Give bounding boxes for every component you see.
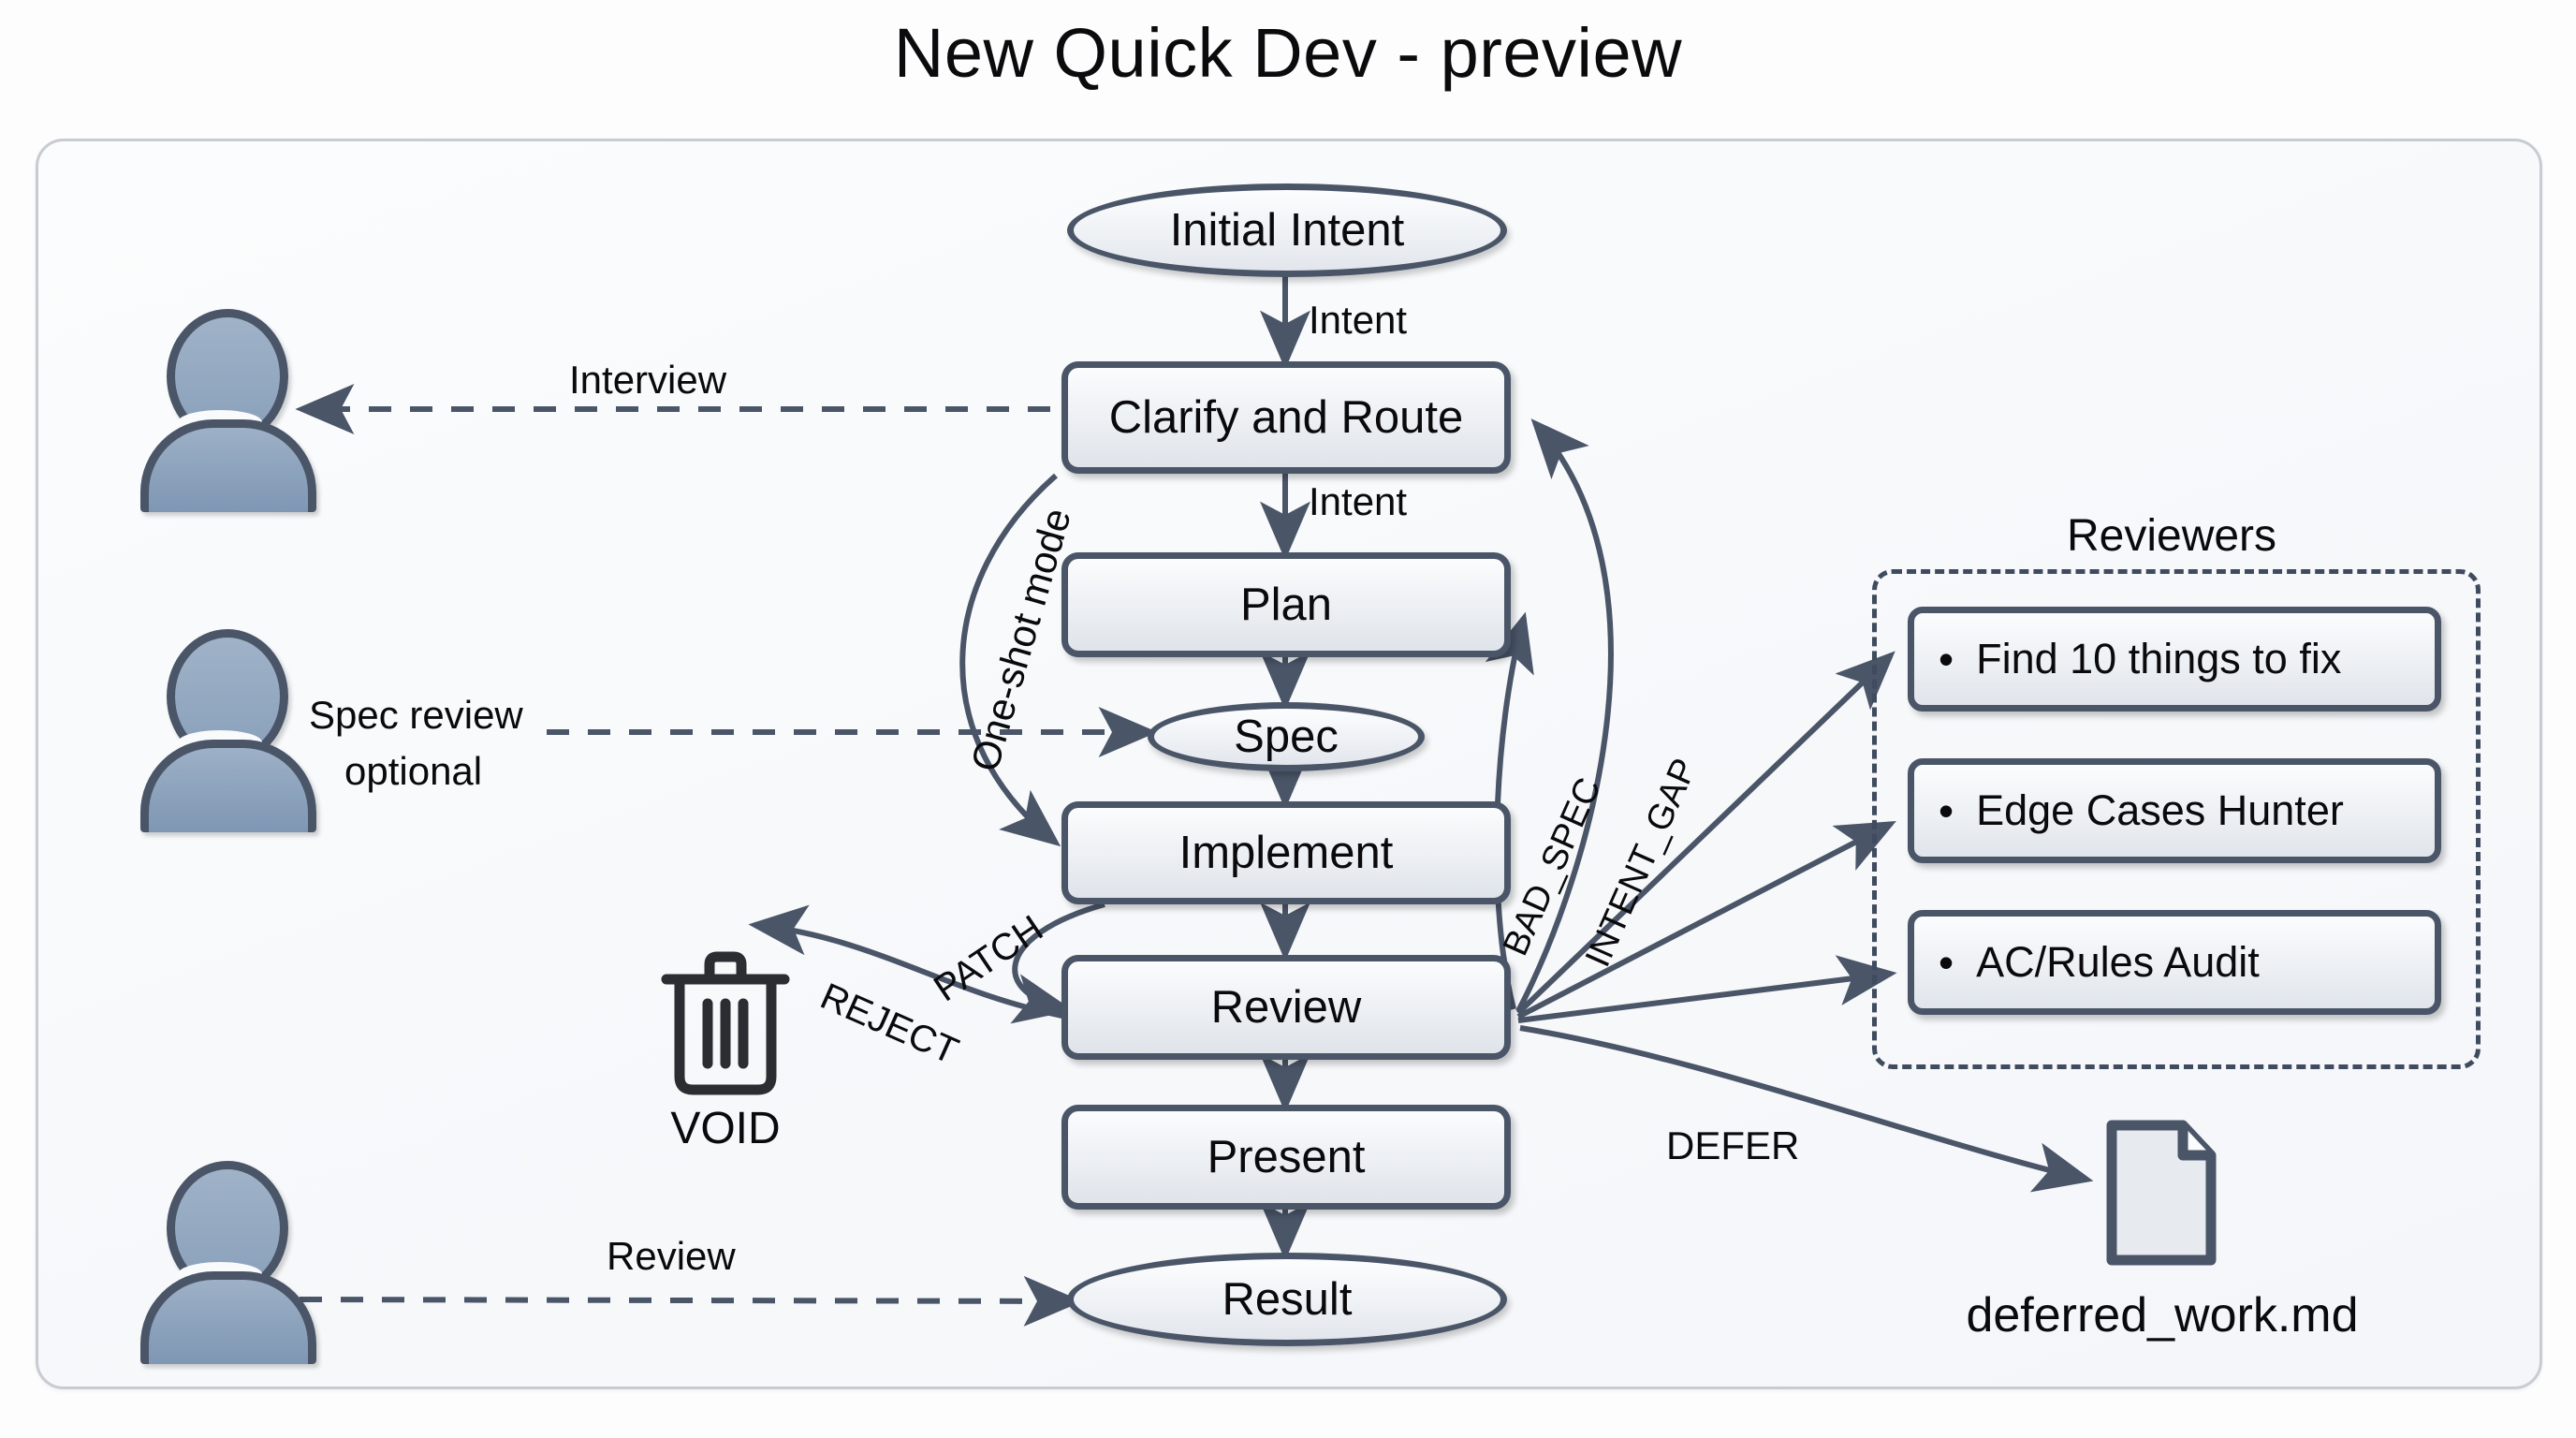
node-spec-label: Spec bbox=[1234, 711, 1339, 763]
edge-label-intent-1: Intent bbox=[1309, 298, 1407, 343]
actor-body-icon bbox=[140, 419, 316, 512]
edge-label-human-review: Review bbox=[607, 1234, 736, 1279]
node-initial-intent-label: Initial Intent bbox=[1170, 204, 1405, 257]
node-clarify-and-route[interactable]: Clarify and Route bbox=[1061, 361, 1511, 474]
node-review-label: Review bbox=[1211, 981, 1362, 1034]
actor-body-icon bbox=[140, 1271, 316, 1364]
actor-final-review[interactable] bbox=[140, 1161, 300, 1353]
node-present-label: Present bbox=[1207, 1131, 1366, 1183]
reviewer-item-find-10-things[interactable]: • Find 10 things to fix bbox=[1908, 607, 2441, 712]
node-implement-label: Implement bbox=[1179, 827, 1394, 879]
reviewer-item-edge-cases-hunter[interactable]: • Edge Cases Hunter bbox=[1908, 758, 2441, 863]
node-plan[interactable]: Plan bbox=[1061, 552, 1511, 657]
reviewers-group-title: Reviewers bbox=[1872, 510, 2471, 562]
document-icon bbox=[2102, 1114, 2220, 1271]
node-result-label: Result bbox=[1222, 1273, 1353, 1326]
trash-icon bbox=[655, 946, 796, 1100]
edge-label-spec-review-line2: optional bbox=[344, 749, 482, 794]
actor-body-icon bbox=[140, 740, 316, 832]
edge-label-spec-review-line1: Spec review bbox=[309, 693, 523, 738]
edge-label-interview: Interview bbox=[569, 358, 726, 403]
deferred-file-label: deferred_work.md bbox=[1891, 1287, 2434, 1343]
reviewer-item-label: Edge Cases Hunter bbox=[1976, 786, 2344, 835]
reviewer-item-label: AC/Rules Audit bbox=[1976, 938, 2260, 987]
edge-label-defer: DEFER bbox=[1666, 1123, 1799, 1168]
node-spec[interactable]: Spec bbox=[1148, 702, 1425, 771]
void-label: VOID bbox=[618, 1103, 833, 1154]
reviewer-item-label: Find 10 things to fix bbox=[1976, 635, 2341, 683]
node-plan-label: Plan bbox=[1240, 579, 1332, 631]
node-clarify-and-route-label: Clarify and Route bbox=[1109, 391, 1464, 444]
diagram-canvas: New Quick Dev - preview bbox=[0, 0, 2576, 1438]
page-title: New Quick Dev - preview bbox=[0, 13, 2576, 93]
reviewer-item-ac-rules-audit[interactable]: • AC/Rules Audit bbox=[1908, 910, 2441, 1015]
actor-spec-review[interactable] bbox=[140, 629, 300, 821]
edge-label-intent-2: Intent bbox=[1309, 479, 1407, 524]
node-result[interactable]: Result bbox=[1067, 1253, 1507, 1346]
node-initial-intent[interactable]: Initial Intent bbox=[1067, 183, 1507, 277]
node-review[interactable]: Review bbox=[1061, 955, 1511, 1060]
node-present[interactable]: Present bbox=[1061, 1105, 1511, 1210]
actor-interview[interactable] bbox=[140, 309, 300, 501]
node-implement[interactable]: Implement bbox=[1061, 801, 1511, 904]
